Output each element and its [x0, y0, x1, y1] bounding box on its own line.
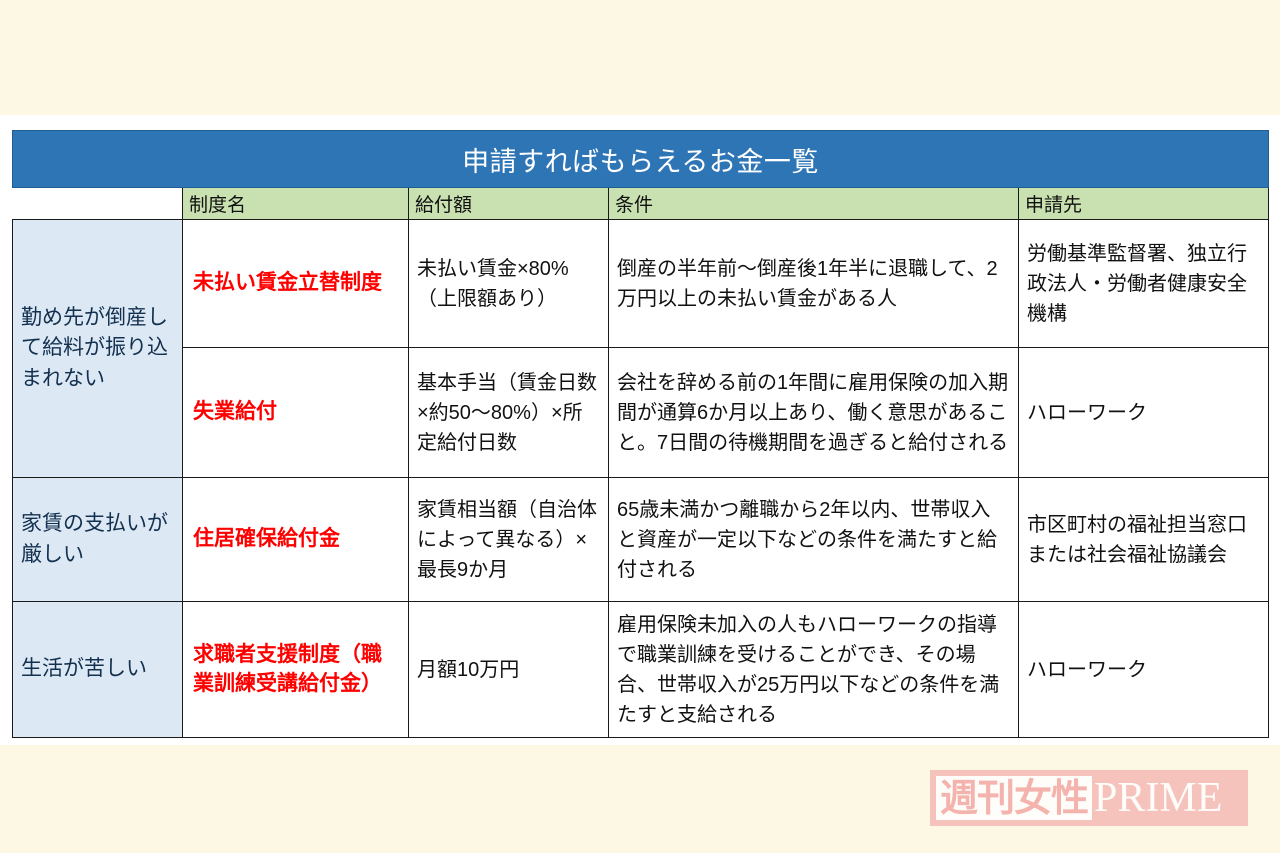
- column-header-amount: 給付額: [409, 188, 609, 220]
- amount-cell: 基本手当（賃金日数×約50〜80%）×所定給付日数: [409, 348, 609, 478]
- where-to-apply-cell: 労働基準監督署、独立行政法人・労働者健康安全機構: [1019, 220, 1269, 348]
- category-cell-rent: 家賃の支払いが厳しい: [13, 478, 183, 602]
- category-cell-bankruptcy: 勤め先が倒産して給料が振り込まれない: [13, 220, 183, 478]
- system-name-cell: 求職者支援制度（職業訓練受講給付金）: [183, 602, 409, 738]
- column-header-system-name: 制度名: [183, 188, 409, 220]
- system-name-cell: 失業給付: [183, 348, 409, 478]
- watermark-japanese-label: 週刊女性: [936, 776, 1092, 820]
- conditions-cell: 65歳未満かつ離職から2年以内、世帯収入と資産が一定以下などの条件を満たすと給付…: [609, 478, 1019, 602]
- header-spacer: [13, 188, 183, 220]
- where-to-apply-cell: ハローワーク: [1019, 602, 1269, 738]
- conditions-cell: 倒産の半年前〜倒産後1年半に退職して、2万円以上の未払い賃金がある人: [609, 220, 1019, 348]
- amount-cell: 月額10万円: [409, 602, 609, 738]
- category-cell-hardship: 生活が苦しい: [13, 602, 183, 738]
- table-row: 勤め先が倒産して給料が振り込まれない 未払い賃金立替制度 未払い賃金×80%（上…: [13, 220, 1269, 348]
- conditions-cell: 会社を辞める前の1年間に雇用保険の加入期間が通算6か月以上あり、働く意思があるこ…: [609, 348, 1019, 478]
- where-to-apply-cell: ハローワーク: [1019, 348, 1269, 478]
- system-name-cell: 住居確保給付金: [183, 478, 409, 602]
- column-header-conditions: 条件: [609, 188, 1019, 220]
- conditions-cell: 雇用保険未加入の人もハローワークの指導で職業訓練を受けることができ、その場合、世…: [609, 602, 1019, 738]
- table-row: 失業給付 基本手当（賃金日数×約50〜80%）×所定給付日数 会社を辞める前の1…: [13, 348, 1269, 478]
- watermark-prime-label: PRIME: [1094, 775, 1222, 821]
- amount-cell: 家賃相当額（自治体によって異なる）×最長9か月: [409, 478, 609, 602]
- table-header-row: 制度名 給付額 条件 申請先: [13, 188, 1269, 220]
- system-name-cell: 未払い賃金立替制度: [183, 220, 409, 348]
- where-to-apply-cell: 市区町村の福祉担当窓口または社会福祉協議会: [1019, 478, 1269, 602]
- benefits-table: 申請すればもらえるお金一覧 制度名 給付額 条件 申請先 勤め先が倒産して給料が…: [12, 130, 1269, 738]
- table-row: 生活が苦しい 求職者支援制度（職業訓練受講給付金） 月額10万円 雇用保険未加入…: [13, 602, 1269, 738]
- publisher-watermark: 週刊女性 PRIME: [930, 770, 1248, 826]
- page-title: 申請すればもらえるお金一覧: [13, 131, 1269, 188]
- table-row: 家賃の支払いが厳しい 住居確保給付金 家賃相当額（自治体によって異なる）×最長9…: [13, 478, 1269, 602]
- amount-cell: 未払い賃金×80%（上限額あり）: [409, 220, 609, 348]
- column-header-where: 申請先: [1019, 188, 1269, 220]
- money-table-container: 申請すればもらえるお金一覧 制度名 給付額 条件 申請先 勤め先が倒産して給料が…: [12, 130, 1268, 738]
- table-title-row: 申請すればもらえるお金一覧: [13, 131, 1269, 188]
